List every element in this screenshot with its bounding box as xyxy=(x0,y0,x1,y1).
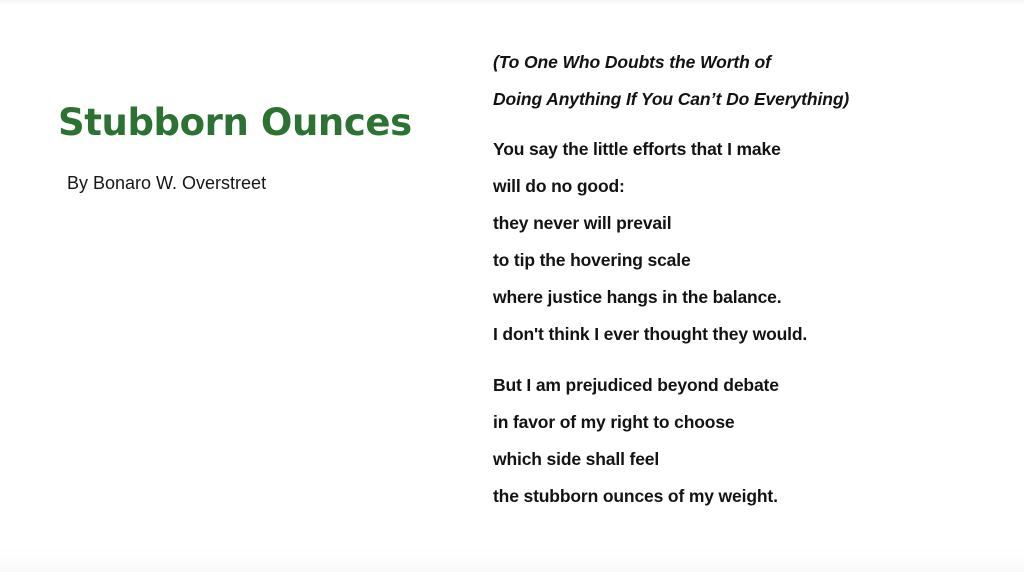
poem-line: the stubborn ounces of my weight. xyxy=(493,478,963,515)
poem-line: You say the little efforts that I make xyxy=(493,131,963,168)
bottom-edge-band xyxy=(0,546,1024,572)
presentation-slide: Stubborn Ounces By Bonaro W. Overstreet … xyxy=(0,0,1024,572)
poem-line: But I am prejudiced beyond debate xyxy=(493,367,963,404)
poem-subtitle-line: (To One Who Doubts the Worth of xyxy=(493,44,963,81)
poem-line: where justice hangs in the balance. xyxy=(493,279,963,316)
poem-stanza: You say the little efforts that I make w… xyxy=(493,131,963,353)
poem-line: in favor of my right to choose xyxy=(493,404,963,441)
poem-line: I don't think I ever thought they would. xyxy=(493,316,963,353)
poem-stanza: But I am prejudiced beyond debate in fav… xyxy=(493,367,963,515)
poem-line: they never will prevail xyxy=(493,205,963,242)
author-byline: By Bonaro W. Overstreet xyxy=(67,170,266,196)
top-edge-band xyxy=(0,0,1024,5)
poem-line: which side shall feel xyxy=(493,441,963,478)
poem-subtitle-line: Doing Anything If You Can’t Do Everythin… xyxy=(493,81,963,118)
title-block: Stubborn Ounces xyxy=(58,100,458,146)
poem-line: to tip the hovering scale xyxy=(493,242,963,279)
poem-block: (To One Who Doubts the Worth of Doing An… xyxy=(493,44,963,515)
poem-line: will do no good: xyxy=(493,168,963,205)
page-title: Stubborn Ounces xyxy=(58,100,458,146)
